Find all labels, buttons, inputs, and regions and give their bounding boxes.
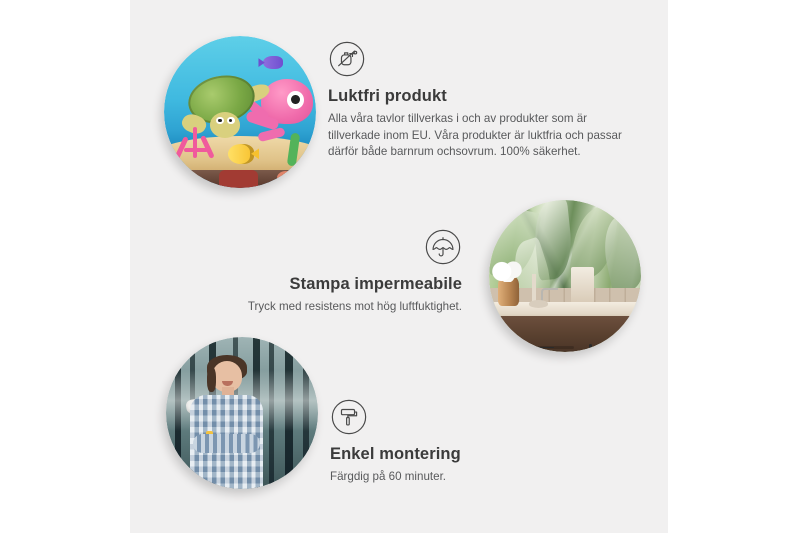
photo-bathroom-tropical-wallpaper (489, 200, 641, 352)
rolled-towel (571, 267, 594, 303)
feature-description: Färgdig på 60 minuter. (330, 469, 610, 486)
feature-canvas: Luktfri produkt Alla våra tavlor tillver… (130, 0, 668, 533)
feature-description: Tryck med resistens mot hög luftfuktighe… (190, 299, 462, 316)
woman-hair-side (207, 367, 216, 391)
soap-dish (529, 300, 549, 308)
feature-mounting: Enkel montering Färgdig på 60 minuter. (330, 398, 610, 486)
feature-waterproof: Stampa impermeabile Tryck med resistens … (190, 228, 462, 316)
photo-sea-life-mural (164, 36, 316, 188)
feature-title: Enkel montering (330, 445, 610, 464)
paint-roller-icon (330, 398, 610, 436)
treasure-chest (219, 170, 259, 188)
umbrella-icon (190, 228, 462, 266)
photo-woman-with-paint-roller (166, 337, 318, 489)
purple-fish (263, 56, 283, 70)
woman-folded-arms (193, 434, 260, 452)
octopus-eye (287, 91, 304, 109)
yellow-fish (228, 144, 254, 164)
photo-woman-image (166, 337, 318, 489)
turtle-eye (227, 117, 235, 125)
turtle-eye (216, 117, 224, 125)
photo-bathroom-image (489, 200, 641, 352)
no-fragrance-spray-bottle-icon (328, 40, 628, 78)
product-feature-panel: Luktfri produkt Alla våra tavlor tillver… (0, 0, 800, 533)
feature-title: Stampa impermeabile (190, 275, 462, 294)
feature-odourless: Luktfri produkt Alla våra tavlor tillver… (328, 40, 628, 161)
wooden-vanity-cabinet (498, 316, 641, 352)
feature-title: Luktfri produkt (328, 87, 628, 106)
mirror-frame (532, 274, 537, 301)
white-flowers (491, 261, 527, 282)
photo-sea-life-mural-image (164, 36, 316, 188)
coral (176, 127, 216, 167)
feature-description: Alla våra tavlor tillverkas i och av pro… (328, 111, 628, 161)
starfish (277, 171, 295, 185)
